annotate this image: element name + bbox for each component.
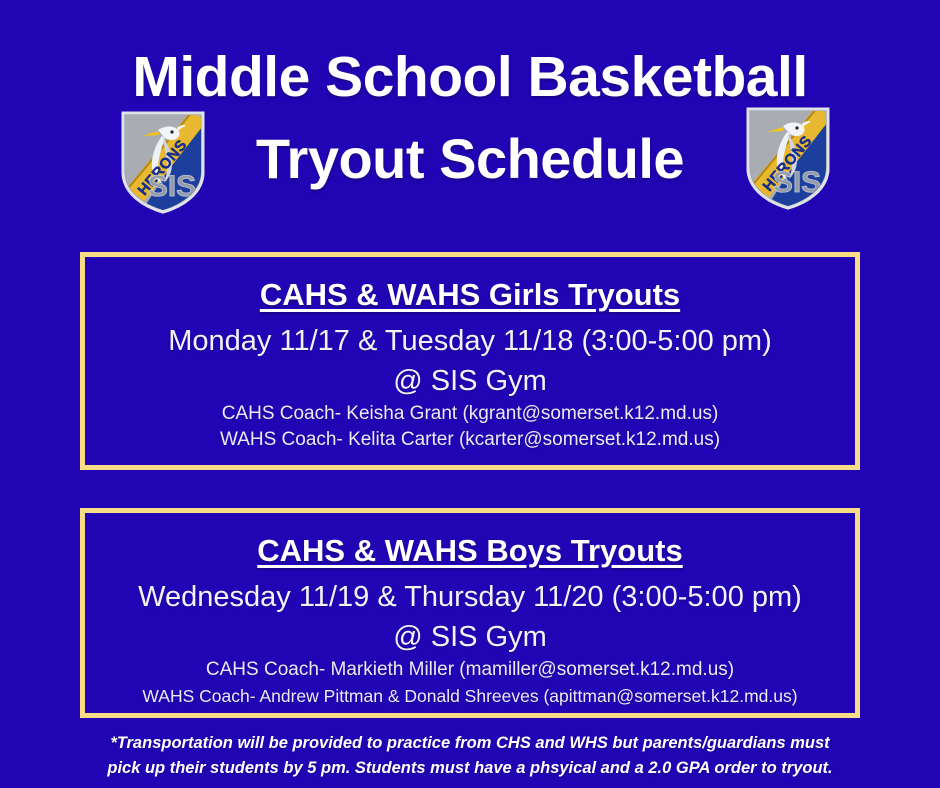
girls-coach-cahs: CAHS Coach- Keisha Grant (kgrant@somerse… (95, 401, 845, 427)
disclaimer-line-1: *Transportation will be provided to prac… (70, 731, 870, 756)
girls-tryouts-schedule: Monday 11/17 & Tuesday 11/18 (3:00-5:00 … (95, 321, 845, 361)
boys-coach-cahs: CAHS Coach- Markieth Miller (mamiller@so… (95, 657, 845, 683)
girls-tryouts-heading: CAHS & WAHS Girls Tryouts (95, 275, 845, 315)
boys-tryouts-schedule: Wednesday 11/19 & Thursday 11/20 (3:00-5… (95, 577, 845, 617)
sis-herons-shield-logo-right: HERONS SIS (745, 106, 831, 210)
boys-coach-wahs: WAHS Coach- Andrew Pittman & Donald Shre… (95, 683, 845, 709)
poster-header: Middle School Basketball Tryout Schedule (0, 0, 940, 232)
girls-tryouts-location: @ SIS Gym (95, 361, 845, 401)
girls-tryouts-panel: CAHS & WAHS Girls Tryouts Monday 11/17 &… (80, 252, 860, 470)
transportation-disclaimer: *Transportation will be provided to prac… (70, 731, 870, 781)
boys-tryouts-location: @ SIS Gym (95, 617, 845, 657)
disclaimer-line-2: pick up their students by 5 pm. Students… (70, 756, 870, 781)
boys-tryouts-panel: CAHS & WAHS Boys Tryouts Wednesday 11/19… (80, 508, 860, 718)
poster-canvas: Middle School Basketball Tryout Schedule (0, 0, 940, 788)
sis-herons-shield-logo-left: HERONS SIS (120, 110, 206, 214)
boys-tryouts-heading: CAHS & WAHS Boys Tryouts (95, 531, 845, 571)
girls-coach-wahs: WAHS Coach- Kelita Carter (kcarter@somer… (95, 427, 845, 453)
